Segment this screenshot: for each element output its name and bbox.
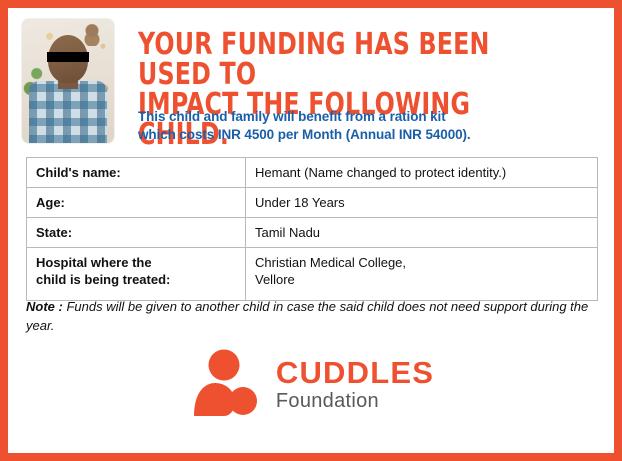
row-label: State: bbox=[27, 218, 246, 248]
row-label: Child's name: bbox=[27, 158, 246, 188]
note-prefix: Note : bbox=[26, 299, 63, 314]
row-value: Christian Medical College, Vellore bbox=[246, 248, 598, 301]
child-details-table: Child's name: Hemant (Name changed to pr… bbox=[26, 157, 598, 301]
row-value-line-2: Vellore bbox=[255, 271, 588, 288]
child-photo bbox=[22, 19, 114, 143]
brand-wordmark: CUDDLES Foundation bbox=[276, 357, 434, 413]
row-value: Tamil Nadu bbox=[246, 218, 598, 248]
brand-logo: CUDDLES Foundation bbox=[8, 348, 614, 420]
subtitle-line-1: This child and family will benefit from … bbox=[138, 109, 446, 124]
card-header: YOUR FUNDING HAS BEEN USED TO IMPACT THE… bbox=[8, 8, 614, 148]
row-value-line-1: Christian Medical College, bbox=[255, 255, 406, 270]
cuddles-parent-child-icon bbox=[188, 348, 260, 420]
row-label: Age: bbox=[27, 188, 246, 218]
row-label-line-1: Hospital where the bbox=[36, 255, 152, 270]
brand-name: CUDDLES bbox=[276, 357, 434, 389]
privacy-eye-bar bbox=[47, 52, 89, 62]
table-row: Hospital where the child is being treate… bbox=[27, 248, 598, 301]
row-value: Hemant (Name changed to protect identity… bbox=[246, 158, 598, 188]
row-label-line-2: child is being treated: bbox=[36, 271, 236, 288]
headline-line-1: YOUR FUNDING HAS BEEN USED TO bbox=[138, 27, 490, 92]
table-row: Child's name: Hemant (Name changed to pr… bbox=[27, 158, 598, 188]
certificate-card: YOUR FUNDING HAS BEEN USED TO IMPACT THE… bbox=[0, 0, 622, 461]
note-text: Note : Funds will be given to another ch… bbox=[26, 297, 592, 335]
note-body: Funds will be given to another child in … bbox=[26, 299, 588, 333]
row-value: Under 18 Years bbox=[246, 188, 598, 218]
subtitle-line-2: which costs INR 4500 per Month (Annual I… bbox=[138, 126, 608, 144]
subtitle: This child and family will benefit from … bbox=[138, 108, 608, 144]
row-label: Hospital where the child is being treate… bbox=[27, 248, 246, 301]
table-row: State: Tamil Nadu bbox=[27, 218, 598, 248]
monkey-mural-icon bbox=[82, 24, 102, 46]
table-row: Age: Under 18 Years bbox=[27, 188, 598, 218]
child-shirt bbox=[29, 81, 107, 143]
brand-subtitle: Foundation bbox=[276, 389, 434, 413]
